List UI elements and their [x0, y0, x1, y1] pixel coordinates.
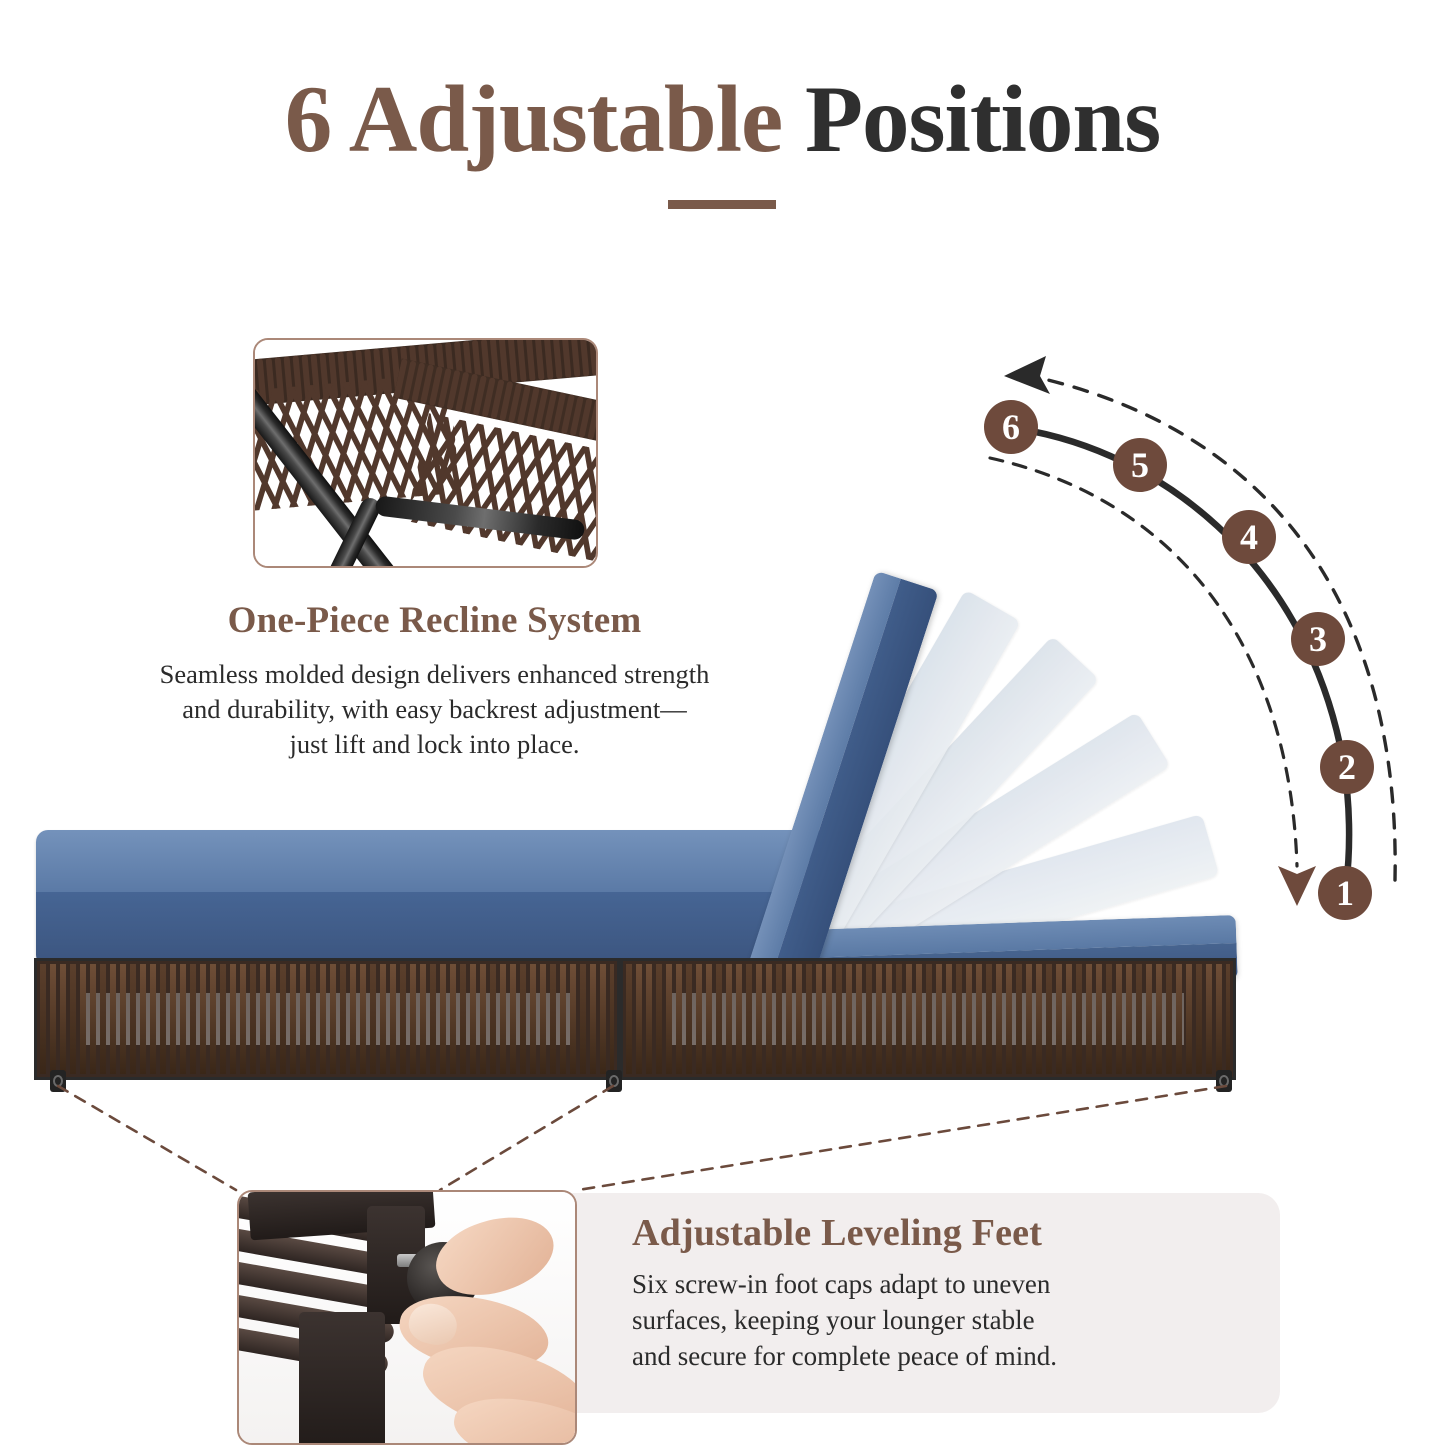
- title-divider: [668, 200, 776, 209]
- recline-body-line-1: Seamless molded design delivers enhanced…: [52, 657, 817, 692]
- position-badge-6: 6: [984, 400, 1038, 454]
- feet-body-line-2: surfaces, keeping your lounger stable: [632, 1302, 1192, 1338]
- leveling-foot-mid: [606, 1070, 622, 1092]
- position-badge-5: 5: [1113, 438, 1167, 492]
- recline-body-line-2: and durability, with easy backrest adjus…: [52, 692, 817, 727]
- recline-system-photo: [253, 338, 598, 568]
- position-badge-1: 1: [1318, 866, 1372, 920]
- feet-heading: Adjustable Leveling Feet: [632, 1212, 1192, 1256]
- page-title-main: Positions: [782, 66, 1160, 172]
- frame-section-left: [34, 958, 620, 1080]
- lounger-rattan-frame: [34, 958, 1236, 1080]
- feet-body-line-1: Six screw-in foot caps adapt to uneven: [632, 1266, 1192, 1302]
- feet-body-line-3: and secure for complete peace of mind.: [632, 1338, 1192, 1374]
- feet-feature-text: Adjustable Leveling Feet Six screw-in fo…: [632, 1212, 1192, 1374]
- infographic-canvas: 6 Adjustable Positions: [0, 0, 1445, 1445]
- recline-body: Seamless molded design delivers enhanced…: [52, 657, 817, 763]
- page-title: 6 Adjustable Positions: [0, 72, 1445, 167]
- outer-arc-arrowhead: [1004, 356, 1050, 394]
- frame-section-right: [620, 958, 1236, 1080]
- seat-cushion: [36, 830, 826, 965]
- lounger-leg: [299, 1312, 385, 1445]
- page-title-accent: 6 Adjustable: [285, 66, 782, 172]
- rattan-closeup-art: [255, 340, 596, 566]
- position-badge-4: 4: [1222, 510, 1276, 564]
- position-badge-3: 3: [1291, 612, 1345, 666]
- recline-heading: One-Piece Recline System: [52, 600, 817, 643]
- recline-body-line-3: just lift and lock into place.: [52, 727, 817, 762]
- feet-body: Six screw-in foot caps adapt to uneven s…: [632, 1266, 1192, 1375]
- leveling-foot-left: [50, 1070, 66, 1092]
- leveling-feet-photo: [237, 1190, 577, 1445]
- leveling-foot-right: [1216, 1070, 1232, 1092]
- position-badge-2: 2: [1320, 740, 1374, 794]
- recline-feature-text: One-Piece Recline System Seamless molded…: [52, 600, 817, 762]
